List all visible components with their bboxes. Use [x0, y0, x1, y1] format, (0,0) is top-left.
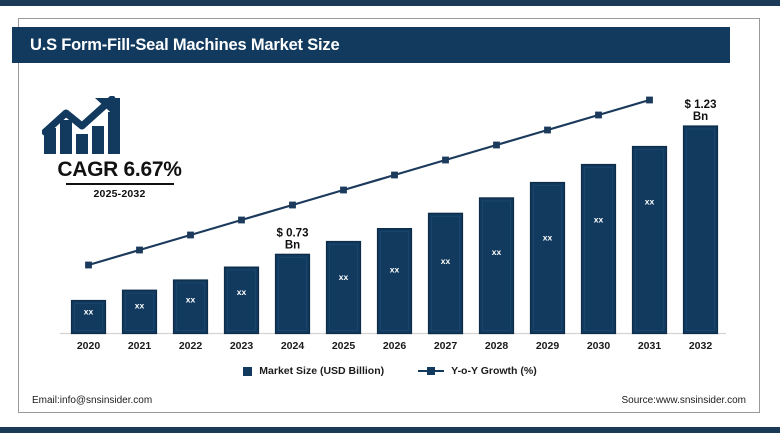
- page-bottom-strip: [0, 427, 780, 433]
- legend-item-yoy-growth[interactable]: Y-o-Y Growth (%): [418, 365, 537, 377]
- growth-bar-chart-arrow-icon: [42, 96, 128, 156]
- page-top-strip: [0, 0, 780, 6]
- chart-page: U.S Form-Fill-Seal Machines Market Size …: [0, 0, 780, 433]
- cagr-value: CAGR 6.67%: [32, 158, 207, 182]
- square-marker-icon: [243, 367, 252, 376]
- cagr-badge: CAGR 6.67% 2025-2032: [32, 96, 207, 200]
- title-bar: U.S Form-Fill-Seal Machines Market Size: [12, 27, 730, 63]
- footer-email: Email:info@snsinsider.com: [32, 395, 152, 406]
- page-title: U.S Form-Fill-Seal Machines Market Size: [12, 36, 339, 55]
- cagr-range: 2025-2032: [32, 188, 207, 200]
- footer-bar: Email:info@snsinsider.com Source:www.sns…: [18, 388, 760, 413]
- chart-frame: [18, 18, 760, 413]
- footer-source: Source:www.snsinsider.com: [622, 395, 747, 406]
- chart-legend: Market Size (USD Billion) Y-o-Y Growth (…: [0, 365, 780, 377]
- legend-label-yoy-growth: Y-o-Y Growth (%): [451, 365, 537, 377]
- cagr-divider: [66, 183, 174, 185]
- legend-label-market-size: Market Size (USD Billion): [259, 365, 384, 377]
- legend-item-market-size[interactable]: Market Size (USD Billion): [243, 365, 384, 377]
- line-marker-icon: [418, 367, 444, 376]
